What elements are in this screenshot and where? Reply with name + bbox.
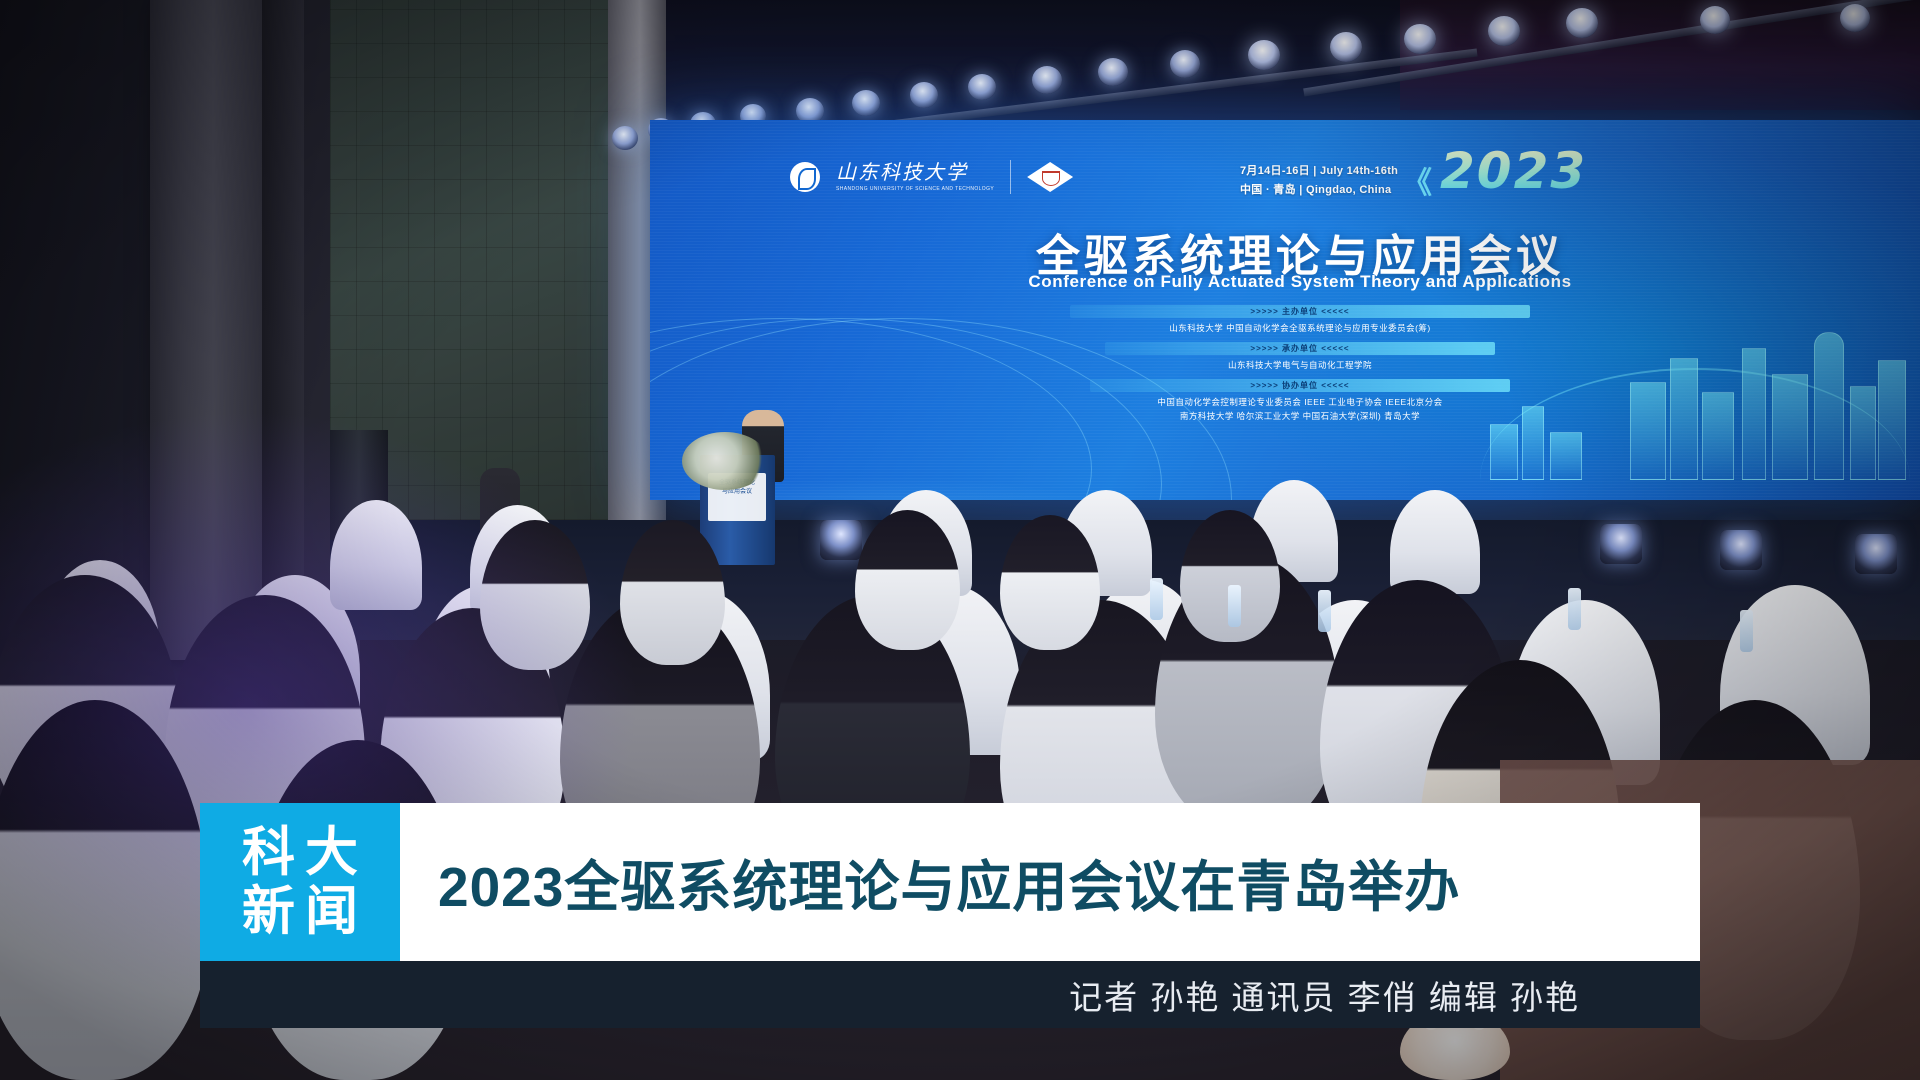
stage-light xyxy=(910,82,938,108)
floor-moving-light xyxy=(1855,534,1897,574)
water-bottle xyxy=(1568,588,1581,630)
organizer-bar-coorganizer: >>>>> 协办单位 <<<<< xyxy=(1090,379,1510,392)
conference-title-en: Conference on Fully Actuated System Theo… xyxy=(800,272,1800,292)
news-headline: 2023全驱系统理论与应用会议在青岛举办 xyxy=(438,842,1460,922)
organizer-names-coorganizer: 中国自动化学会控制理论专业委员会 IEEE 工业电子协会 IEEE北京分会 南方… xyxy=(905,396,1695,422)
stage-light xyxy=(968,74,996,100)
water-bottle xyxy=(1318,590,1331,632)
credits-text: 记者 孙艳 通讯员 李俏 编辑 孙艳 xyxy=(1069,971,1580,1019)
led-date-place-block: 7月14日-16日 | July 14th-16th 中国 · 青岛 | Qin… xyxy=(1240,162,1398,199)
organizer-block: >>>>> 主办单位 <<<<< 山东科技大学 中国自动化学会全驱系统理论与应用… xyxy=(905,305,1695,430)
organizer-names-host: 山东科技大学 中国自动化学会全驱系统理论与应用专业委员会(筹) xyxy=(905,322,1695,335)
lower-third-main-bar: 科大 新闻 2023全驱系统理论与应用会议在青岛举办 xyxy=(200,803,1700,961)
conference-place: 中国 · 青岛 | Qingdao, China xyxy=(1240,181,1398,200)
conference-emblem-icon xyxy=(1027,162,1073,192)
stage-light xyxy=(1404,24,1436,54)
stage-light xyxy=(1032,66,1062,94)
podium-flowers xyxy=(682,432,768,490)
badge-line-2: 新闻 xyxy=(232,883,368,940)
stage-light xyxy=(612,126,638,150)
floor-moving-light xyxy=(820,520,862,560)
stage-led-screen: 山东科技大学 SHANDONG UNIVERSITY OF SCIENCE AN… xyxy=(650,120,1920,500)
chevron-decoration-icon: 《 xyxy=(1402,158,1432,202)
university-name-cn: 山东科技大学 xyxy=(836,163,994,183)
floor-moving-light xyxy=(1720,530,1762,570)
headline-panel: 2023全驱系统理论与应用会议在青岛举办 xyxy=(400,803,1700,961)
water-bottle xyxy=(1740,610,1753,652)
university-emblem-icon xyxy=(790,162,820,192)
lower-third-overlay: 科大 新闻 2023全驱系统理论与应用会议在青岛举办 记者 孙艳 通讯员 李俏 … xyxy=(200,803,1700,1028)
badge-line-1: 科大 xyxy=(232,824,368,881)
water-bottle xyxy=(1150,578,1163,620)
university-name-en: SHANDONG UNIVERSITY OF SCIENCE AND TECHN… xyxy=(836,186,994,192)
stage-light xyxy=(1170,50,1200,78)
stage-light xyxy=(1248,40,1280,70)
conference-dates: 7月14日-16日 | July 14th-16th xyxy=(1240,162,1398,181)
conference-year: 2023 xyxy=(1440,142,1587,200)
stage-light xyxy=(1700,6,1730,34)
stage-light xyxy=(1840,4,1870,32)
hall-column-secondary xyxy=(262,0,304,660)
stage-light xyxy=(852,90,880,116)
stage-light xyxy=(1330,32,1362,62)
stage-light xyxy=(1098,58,1128,86)
stage-light xyxy=(1488,16,1520,46)
broadcast-frame: 山东科技大学 SHANDONG UNIVERSITY OF SCIENCE AN… xyxy=(0,0,1920,1080)
organizer-bar-undertaker: >>>>> 承办单位 <<<<< xyxy=(1105,342,1495,355)
news-program-badge: 科大 新闻 xyxy=(200,803,400,961)
led-logo-row: 山东科技大学 SHANDONG UNIVERSITY OF SCIENCE AN… xyxy=(790,160,1073,194)
water-bottle xyxy=(1228,585,1241,627)
organizer-bar-host: >>>>> 主办单位 <<<<< xyxy=(1070,305,1530,318)
stage-light xyxy=(1566,8,1598,38)
floor-moving-light xyxy=(1600,524,1642,564)
credits-bar: 记者 孙艳 通讯员 李俏 编辑 孙艳 xyxy=(200,961,1700,1028)
hall-column xyxy=(150,0,265,660)
logo-divider xyxy=(1010,160,1011,194)
organizer-names-undertaker: 山东科技大学电气与自动化工程学院 xyxy=(905,359,1695,372)
